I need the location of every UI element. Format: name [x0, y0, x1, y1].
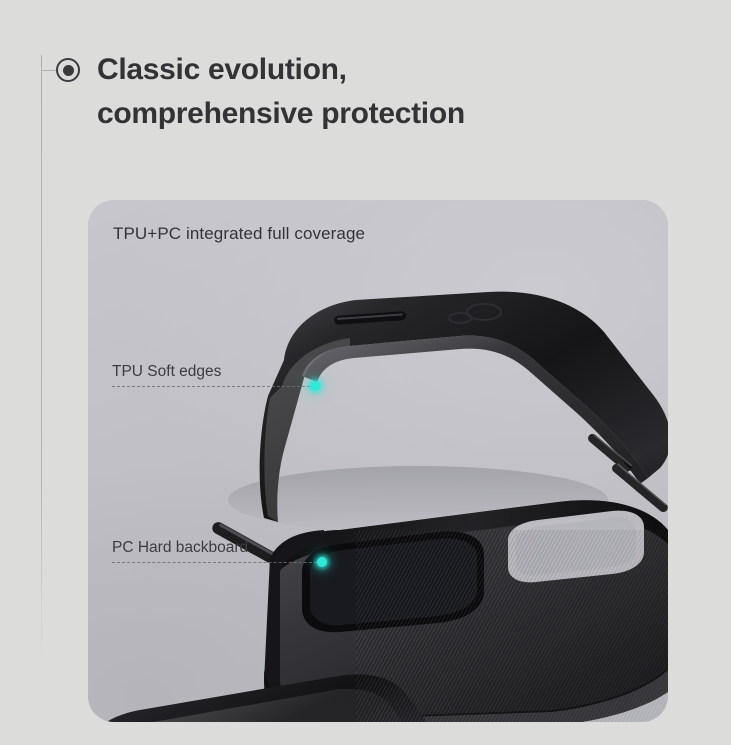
vertical-rule: [41, 55, 42, 670]
page-header: Classic evolution, comprehensive protect…: [0, 0, 731, 200]
page-title: Classic evolution, comprehensive protect…: [97, 48, 697, 136]
card-title: TPU+PC integrated full coverage: [113, 224, 365, 244]
page-title-line2: comprehensive protection: [97, 92, 697, 136]
radio-dot-icon: [56, 58, 80, 82]
callout-leader-line: [112, 562, 322, 563]
callout-label: PC Hard backboard: [112, 539, 248, 557]
callout-label: TPU Soft edges: [112, 363, 221, 381]
feature-card: TPU+PC integrated full coverage: [88, 200, 668, 722]
page-title-line1: Classic evolution,: [97, 48, 697, 92]
product-image: [88, 200, 668, 722]
rule-tick: [42, 70, 56, 71]
callout-leader-line: [112, 386, 315, 387]
callout-marker-dot: [310, 381, 320, 391]
callout-marker-dot: [317, 557, 327, 567]
product-illustration: [88, 200, 668, 722]
